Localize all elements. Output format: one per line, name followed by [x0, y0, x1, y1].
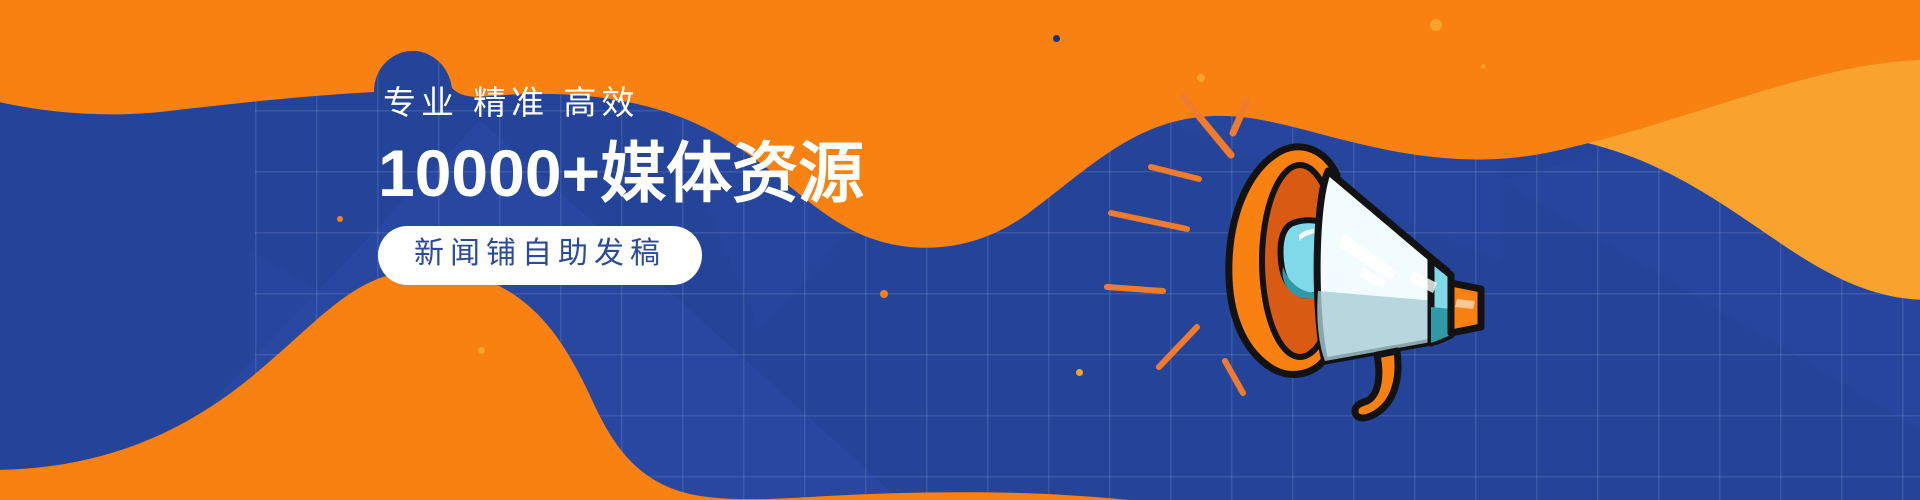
blob-bottom-left	[0, 270, 1220, 500]
banner-kicker: 专业 精准 高效	[383, 86, 938, 119]
sound-ray	[1107, 287, 1163, 291]
self-service-pill-button[interactable]: 新闻铺自助发稿	[378, 226, 702, 285]
horn-body-shadow	[1317, 291, 1437, 361]
banner-copy: 专业 精准 高效 10000+媒体资源 新闻铺自助发稿	[378, 86, 938, 285]
horn-handle	[1355, 351, 1398, 418]
sound-ray	[1225, 361, 1243, 393]
sound-ray	[1159, 327, 1197, 367]
sound-ray	[1183, 97, 1231, 155]
promo-banner: 专业 精准 高效 10000+媒体资源 新闻铺自助发稿	[0, 0, 1920, 500]
orange-blob-shapes	[0, 0, 1920, 500]
sound-ray	[1233, 101, 1247, 133]
background-layer	[0, 0, 1920, 500]
banner-headline: 10000+媒体资源	[378, 139, 938, 208]
blob-top-orange	[0, 0, 1920, 248]
megaphone-illustration	[1165, 75, 1525, 420]
